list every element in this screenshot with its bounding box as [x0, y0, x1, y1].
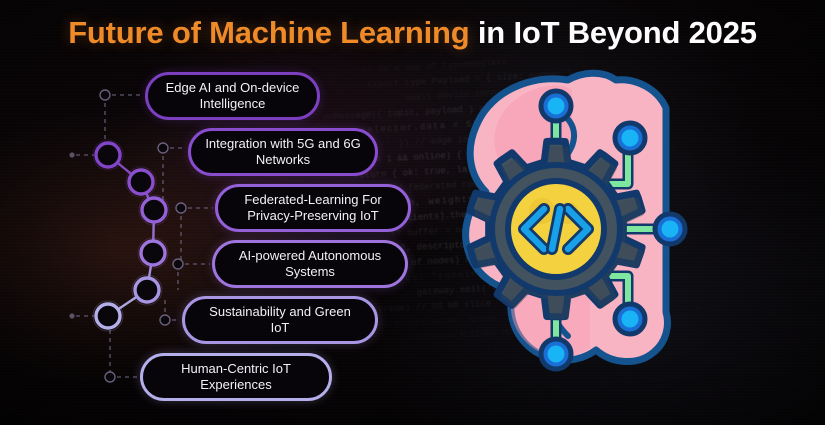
- roadmap-pill-autonomous-systems[interactable]: AI-powered Autonomous Systems: [212, 240, 408, 288]
- chain-node-3[interactable]: [138, 238, 168, 268]
- chain-node-1[interactable]: [126, 167, 156, 197]
- chain-node-5[interactable]: [93, 301, 123, 331]
- small-node-4: [160, 315, 170, 325]
- roadmap-pill-label: Edge AI and On-device Intelligence: [162, 80, 303, 112]
- circuit-node-right: [655, 214, 685, 244]
- chain-node-2[interactable]: [139, 195, 169, 225]
- title-accent-text: Future of Machine Learning: [68, 15, 469, 50]
- roadmap-pill-5g-6g[interactable]: Integration with 5G and 6G Networks: [188, 128, 378, 176]
- small-node-0: [100, 90, 110, 100]
- circuit-node-upper-right: [615, 123, 645, 153]
- small-node-2: [176, 203, 186, 213]
- title-plain-text: in IoT Beyond 2025: [469, 15, 756, 50]
- roadmap-pill-label: Sustainability and Green IoT: [199, 304, 361, 336]
- brain-gear-circuit-illustration: [452, 64, 792, 394]
- small-node-1: [158, 143, 168, 153]
- circuit-node-lower-right: [615, 304, 645, 334]
- roadmap-pill-green-iot[interactable]: Sustainability and Green IoT: [182, 296, 378, 344]
- roadmap-pill-label: Integration with 5G and 6G Networks: [205, 136, 361, 168]
- circuit-node-top: [541, 91, 571, 121]
- roadmap-pill-label: AI-powered Autonomous Systems: [229, 248, 391, 280]
- chain-node-0[interactable]: [93, 140, 123, 170]
- small-node-3: [173, 259, 183, 269]
- roadmap-pill-label: Human-Centric IoT Experiences: [157, 361, 315, 393]
- edge-dot-0: [69, 152, 74, 157]
- roadmap-pill-label: Federated-Learning For Privacy-Preservin…: [232, 192, 394, 224]
- chain-node-4[interactable]: [132, 275, 162, 305]
- page-title: Future of Machine Learning in IoT Beyond…: [0, 14, 825, 52]
- small-node-5: [105, 372, 115, 382]
- roadmap-pill-human-centric[interactable]: Human-Centric IoT Experiences: [140, 353, 332, 401]
- roadmap-pill-edge-ai[interactable]: Edge AI and On-device Intelligence: [145, 72, 320, 120]
- circuit-node-bottom: [541, 339, 571, 369]
- edge-dot-1: [69, 313, 74, 318]
- infographic-canvas: const model = tf.sequential({ layers });…: [0, 0, 825, 425]
- roadmap-pill-federated-learning[interactable]: Federated-Learning For Privacy-Preservin…: [215, 184, 411, 232]
